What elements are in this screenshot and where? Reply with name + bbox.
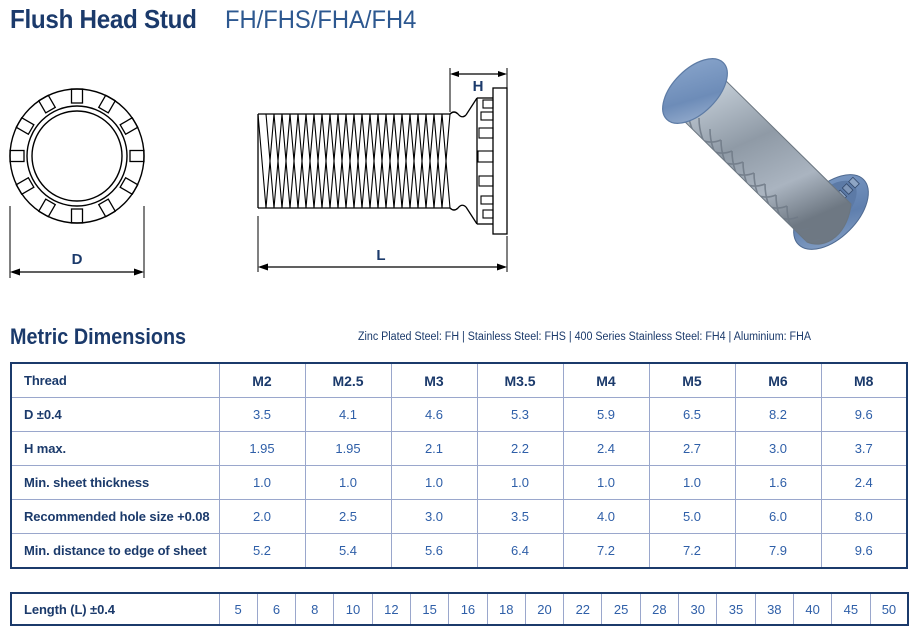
length-cell: 12 bbox=[372, 593, 410, 625]
column-header-m5: M5 bbox=[649, 363, 735, 398]
length-cell: 22 bbox=[564, 593, 602, 625]
length-cell: 10 bbox=[334, 593, 372, 625]
cell: 4.6 bbox=[391, 398, 477, 432]
cell: 7.2 bbox=[649, 534, 735, 569]
table-row: Min. distance to edge of sheet 5.2 5.4 5… bbox=[11, 534, 907, 569]
cell: 2.2 bbox=[477, 432, 563, 466]
material-codes-note: Zinc Plated Steel: FH | Stainless Steel:… bbox=[358, 331, 811, 343]
cell: 1.0 bbox=[219, 466, 305, 500]
length-cell: 35 bbox=[717, 593, 755, 625]
length-cell: 25 bbox=[602, 593, 640, 625]
cell: 2.1 bbox=[391, 432, 477, 466]
length-cell: 30 bbox=[679, 593, 717, 625]
cell: 5.0 bbox=[649, 500, 735, 534]
page-header: Flush Head Stud FH/FHS/FHA/FH4 bbox=[10, 4, 426, 35]
cell: 2.5 bbox=[305, 500, 391, 534]
length-cell: 18 bbox=[487, 593, 525, 625]
dimension-label-l: L bbox=[376, 247, 385, 264]
cell: 3.7 bbox=[821, 432, 907, 466]
cell: 4.1 bbox=[305, 398, 391, 432]
section-header: Metric Dimensions Zinc Plated Steel: FH … bbox=[10, 324, 900, 352]
length-cell: 15 bbox=[410, 593, 448, 625]
row-label: Recommended hole size +0.08 bbox=[11, 500, 219, 534]
page-title: Flush Head Stud bbox=[10, 4, 197, 35]
top-view-diagram: D bbox=[0, 46, 200, 291]
cell: 2.0 bbox=[219, 500, 305, 534]
row-label-length: Length (L) ±0.4 bbox=[11, 593, 219, 625]
cell: 3.0 bbox=[735, 432, 821, 466]
length-cell: 5 bbox=[219, 593, 257, 625]
cell: 8.2 bbox=[735, 398, 821, 432]
length-cell: 20 bbox=[525, 593, 563, 625]
cell: 4.0 bbox=[563, 500, 649, 534]
cell: 1.95 bbox=[305, 432, 391, 466]
length-cell: 8 bbox=[296, 593, 334, 625]
cell: 3.5 bbox=[477, 500, 563, 534]
cell: 3.5 bbox=[219, 398, 305, 432]
cell: 5.9 bbox=[563, 398, 649, 432]
cell: 2.7 bbox=[649, 432, 735, 466]
row-label: H max. bbox=[11, 432, 219, 466]
table-row: H max. 1.95 1.95 2.1 2.2 2.4 2.7 3.0 3.7 bbox=[11, 432, 907, 466]
side-view-diagram: H L bbox=[245, 46, 525, 291]
length-cell: 40 bbox=[793, 593, 831, 625]
cell: 1.0 bbox=[305, 466, 391, 500]
cell: 5.3 bbox=[477, 398, 563, 432]
cell: 9.6 bbox=[821, 534, 907, 569]
table-row: Recommended hole size +0.08 2.0 2.5 3.0 … bbox=[11, 500, 907, 534]
table-row: Min. sheet thickness 1.0 1.0 1.0 1.0 1.0… bbox=[11, 466, 907, 500]
table-row: D ±0.4 3.5 4.1 4.6 5.3 5.9 6.5 8.2 9.6 bbox=[11, 398, 907, 432]
cell: 2.4 bbox=[563, 432, 649, 466]
dimension-label-d: D bbox=[72, 251, 83, 268]
header-thread-label: Thread bbox=[11, 363, 219, 398]
column-header-m6: M6 bbox=[735, 363, 821, 398]
cell: 6.5 bbox=[649, 398, 735, 432]
length-cell: 50 bbox=[870, 593, 908, 625]
cell: 7.2 bbox=[563, 534, 649, 569]
column-header-m8: M8 bbox=[821, 363, 907, 398]
technical-drawings: D bbox=[0, 46, 910, 296]
row-label: Min. distance to edge of sheet bbox=[11, 534, 219, 569]
main-table-body: Thread M2 M2.5 M3 M3.5 M4 M5 M6 M8 D ±0.… bbox=[11, 363, 907, 568]
cell: 1.0 bbox=[563, 466, 649, 500]
column-header-m2: M2 bbox=[219, 363, 305, 398]
part-codes: FH/FHS/FHA/FH4 bbox=[225, 6, 416, 35]
length-cell: 45 bbox=[832, 593, 870, 625]
cell: 2.4 bbox=[821, 466, 907, 500]
length-cell: 16 bbox=[449, 593, 487, 625]
row-label: D ±0.4 bbox=[11, 398, 219, 432]
cell: 1.0 bbox=[477, 466, 563, 500]
length-cell: 38 bbox=[755, 593, 793, 625]
cell: 7.9 bbox=[735, 534, 821, 569]
length-options-table: Length (L) ±0.4 5 6 8 10 12 15 16 18 20 … bbox=[10, 592, 909, 626]
product-photo bbox=[655, 52, 905, 287]
cell: 5.4 bbox=[305, 534, 391, 569]
cell: 1.0 bbox=[649, 466, 735, 500]
table-row: Length (L) ±0.4 5 6 8 10 12 15 16 18 20 … bbox=[11, 593, 908, 625]
length-cell: 6 bbox=[257, 593, 295, 625]
cell: 5.2 bbox=[219, 534, 305, 569]
metric-dimensions-table: Thread M2 M2.5 M3 M3.5 M4 M5 M6 M8 D ±0.… bbox=[10, 362, 908, 569]
section-title: Metric Dimensions bbox=[10, 324, 186, 350]
length-table-body: Length (L) ±0.4 5 6 8 10 12 15 16 18 20 … bbox=[11, 593, 908, 625]
column-header-m3: M3 bbox=[391, 363, 477, 398]
column-header-m4: M4 bbox=[563, 363, 649, 398]
cell: 1.6 bbox=[735, 466, 821, 500]
cell: 6.0 bbox=[735, 500, 821, 534]
dimension-label-h: H bbox=[473, 78, 484, 95]
cell: 9.6 bbox=[821, 398, 907, 432]
cell: 3.0 bbox=[391, 500, 477, 534]
cell: 1.0 bbox=[391, 466, 477, 500]
cell: 1.95 bbox=[219, 432, 305, 466]
cell: 5.6 bbox=[391, 534, 477, 569]
column-header-m3-5: M3.5 bbox=[477, 363, 563, 398]
cell: 6.4 bbox=[477, 534, 563, 569]
table-header-row: Thread M2 M2.5 M3 M3.5 M4 M5 M6 M8 bbox=[11, 363, 907, 398]
length-cell: 28 bbox=[640, 593, 678, 625]
column-header-m2-5: M2.5 bbox=[305, 363, 391, 398]
row-label: Min. sheet thickness bbox=[11, 466, 219, 500]
cell: 8.0 bbox=[821, 500, 907, 534]
